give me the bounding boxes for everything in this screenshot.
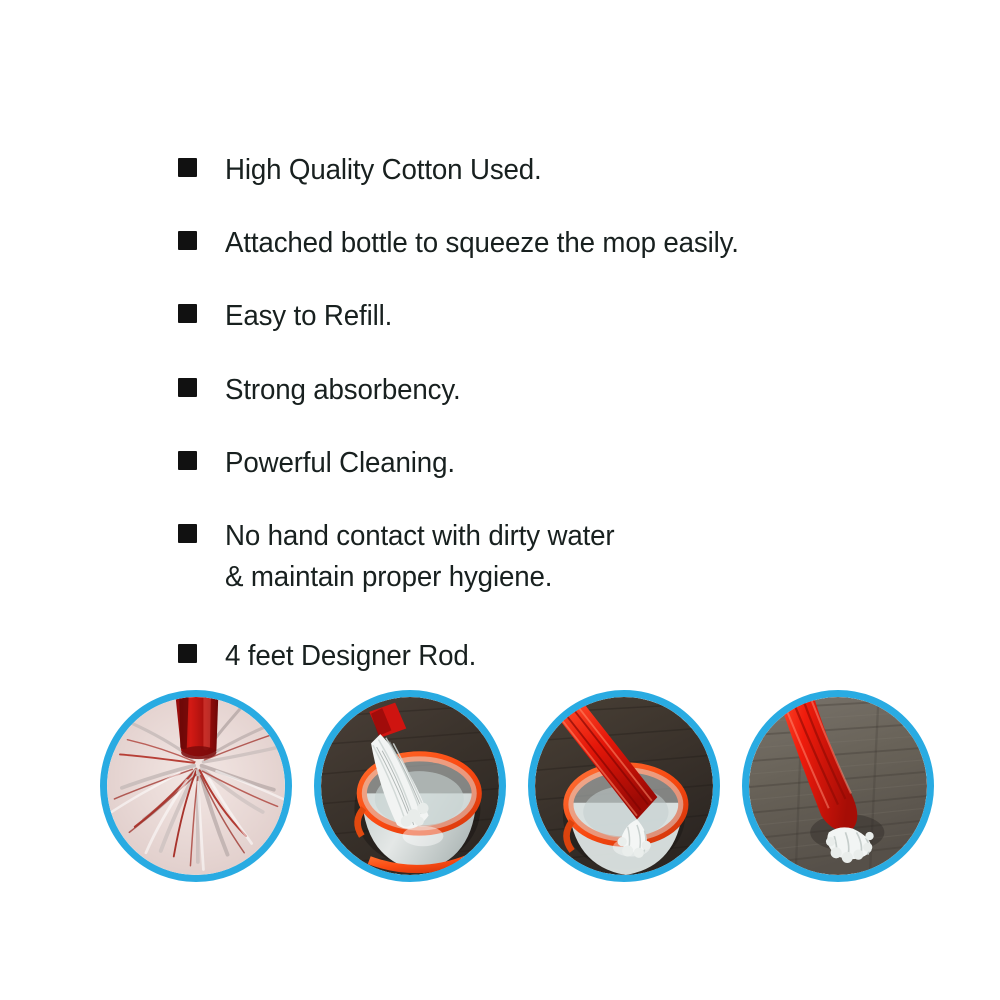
- bullet-square-icon: [178, 231, 197, 250]
- bullet-square-icon: [178, 451, 197, 470]
- product-photo-1: [100, 690, 292, 882]
- mop-head-closeup-icon: [107, 697, 285, 875]
- feature-item: High Quality Cotton Used.: [178, 150, 878, 191]
- photo-image-mop-head-closeup: [107, 697, 285, 875]
- rod-across-bucket-icon: [535, 697, 713, 875]
- feature-text: No hand contact with dirty water & maint…: [225, 516, 614, 598]
- feature-item: 4 feet Designer Rod.: [178, 636, 878, 677]
- bullet-square-icon: [178, 158, 197, 177]
- bullet-square-icon: [178, 304, 197, 323]
- photo-image-rod-across-bucket: [535, 697, 713, 875]
- feature-item: Attached bottle to squeeze the mop easil…: [178, 223, 878, 264]
- feature-text: 4 feet Designer Rod.: [225, 636, 476, 677]
- bullet-square-icon: [178, 378, 197, 397]
- product-photo-4: [742, 690, 934, 882]
- feature-item: No hand contact with dirty water & maint…: [178, 516, 878, 598]
- feature-text: Attached bottle to squeeze the mop easil…: [225, 223, 739, 264]
- mop-on-floor-icon: [749, 697, 927, 875]
- feature-list: High Quality Cotton Used. Attached bottl…: [178, 150, 878, 709]
- feature-item: Easy to Refill.: [178, 296, 878, 337]
- feature-text: High Quality Cotton Used.: [225, 150, 542, 191]
- product-photo-strip: [100, 690, 934, 884]
- photo-image-mop-over-bucket: [321, 697, 499, 875]
- feature-text: Strong absorbency.: [225, 370, 461, 411]
- feature-item: Strong absorbency.: [178, 370, 878, 411]
- feature-text: Powerful Cleaning.: [225, 443, 455, 484]
- bullet-square-icon: [178, 644, 197, 663]
- feature-item: Powerful Cleaning.: [178, 443, 878, 484]
- product-photo-3: [528, 690, 720, 882]
- mop-over-bucket-icon: [321, 697, 499, 875]
- photo-image-mop-on-floor: [749, 697, 927, 875]
- feature-text: Easy to Refill.: [225, 296, 392, 337]
- bullet-square-icon: [178, 524, 197, 543]
- product-photo-2: [314, 690, 506, 882]
